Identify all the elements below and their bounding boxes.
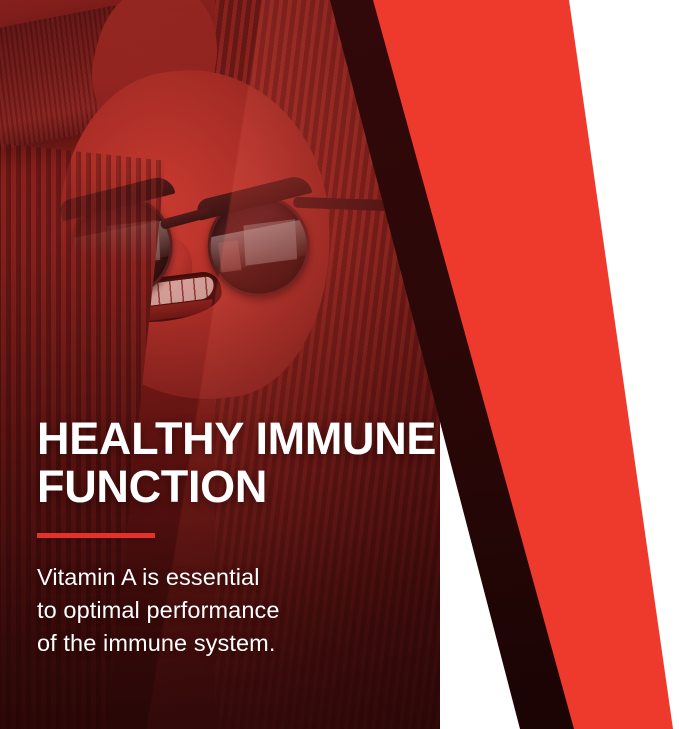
promo-banner: HEALTHY IMMUNE FUNCTION Vitamin A is ess… xyxy=(0,0,679,729)
headline-line-1: HEALTHY IMMUNE xyxy=(37,413,436,464)
page-title: HEALTHY IMMUNE FUNCTION xyxy=(37,415,467,511)
body-copy: Vitamin A is essential to optimal perfor… xyxy=(37,561,467,660)
body-line-1: Vitamin A is essential xyxy=(37,561,467,594)
accent-rule xyxy=(37,533,155,538)
body-line-3: of the immune system. xyxy=(37,627,467,660)
copy-block: HEALTHY IMMUNE FUNCTION Vitamin A is ess… xyxy=(37,415,467,660)
headline-line-2: FUNCTION xyxy=(37,461,267,512)
body-line-2: to optimal performance xyxy=(37,594,467,627)
